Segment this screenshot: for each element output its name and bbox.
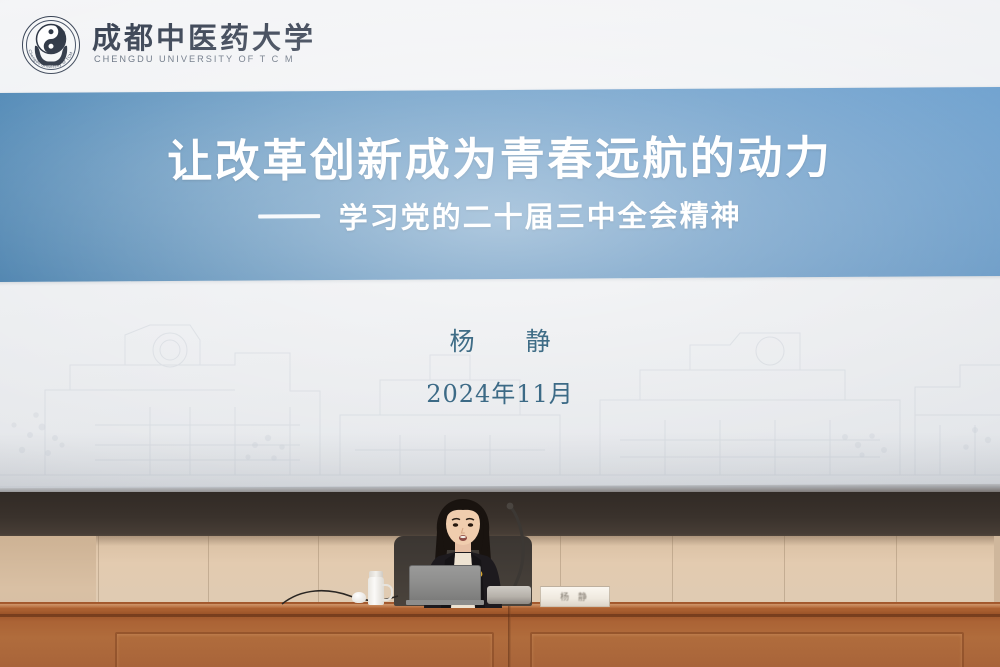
slide-subtitle: 学习党的二十届三中全会精神 [339,192,742,236]
nameplate: 杨 静 [540,586,610,607]
slide-subtitle-row: 学习党的二十届三中全会精神 [259,192,742,237]
thermos-cup [366,571,386,605]
presentation-date: 2024年11月 [0,374,1000,409]
laptop[interactable] [406,565,484,605]
presenter-block: 杨 静 2024年11月 [0,327,1000,409]
university-logo: 成都中医药大学 Chengdu University of TCM [22,16,316,74]
lecture-hall-scene: 成都中医药大学 Chengdu University of TCM [0,0,1000,667]
slide-body: 杨 静 2024年11月 [0,279,1000,492]
projection-screen: 成都中医药大学 Chengdu University of TCM [0,0,1000,492]
podium-desk [0,602,1000,667]
nameplate-text: 杨 静 [560,590,590,603]
presenter-name: 杨 静 [0,327,1000,357]
slide-title-banner: 让改革创新成为青春远航的动力 学习党的二十届三中全会精神 [0,87,1000,282]
university-emblem-icon: 成都中医药大学 Chengdu University of TCM [22,16,80,74]
slide-header: 成都中医药大学 Chengdu University of TCM [0,0,1000,90]
slide-title: 让改革创新成为青春远航的动力 [167,133,832,187]
microphone-base [487,586,531,604]
university-name-block: 成都中医药大学 CHENGDU UNIVERSITY OF T C M [92,24,316,66]
cupped-hands-icon [33,43,69,67]
university-name-en: CHENGDU UNIVERSITY OF T C M [92,54,316,64]
subtitle-dash-icon [259,214,321,218]
university-name-cn: 成都中医药大学 [92,24,316,53]
teacup [352,592,366,603]
